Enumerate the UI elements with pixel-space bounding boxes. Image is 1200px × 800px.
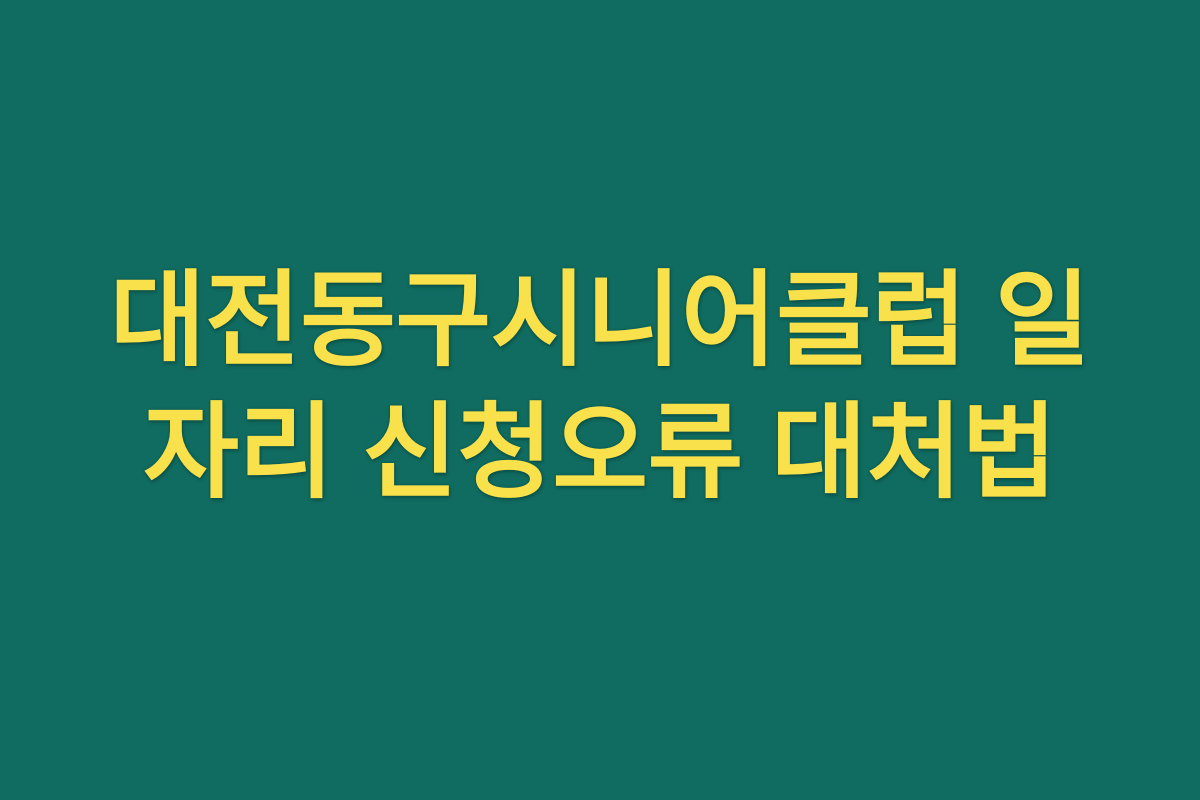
thumbnail-card: 대전동구시니어클럽 일 자리 신청오류 대처법: [0, 0, 1200, 800]
title-line-2: 자리 신청오류 대처법: [100, 387, 1100, 519]
title-block: 대전동구시니어클럽 일 자리 신청오류 대처법: [100, 255, 1100, 519]
title-line-1: 대전동구시니어클럽 일: [100, 255, 1100, 387]
